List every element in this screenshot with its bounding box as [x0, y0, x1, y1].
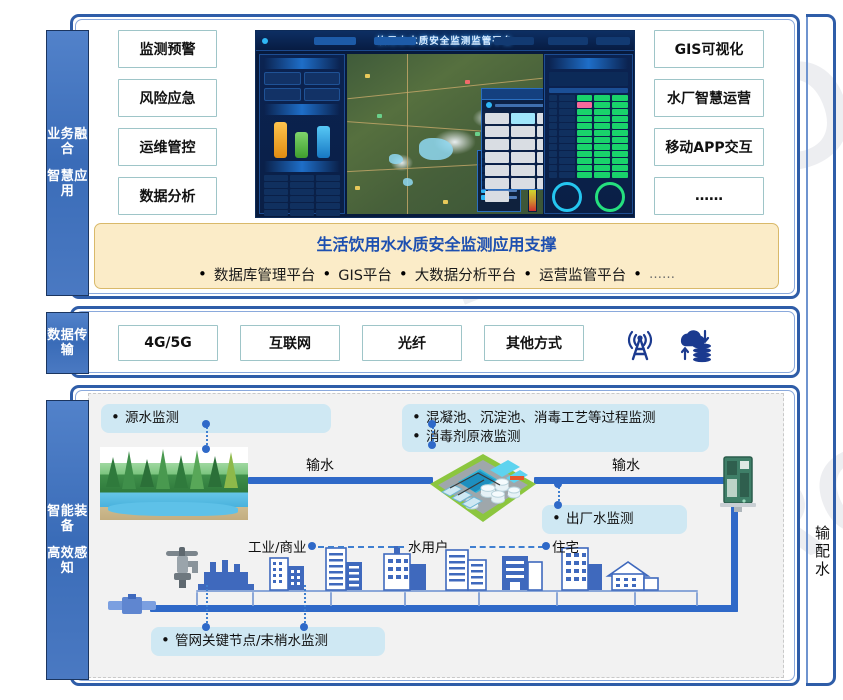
dashboard-nav-tab[interactable] — [548, 37, 588, 45]
bullet-icon: • — [322, 267, 331, 282]
table-cell — [264, 182, 288, 188]
metric-tile[interactable] — [537, 178, 543, 189]
connector-dot — [308, 542, 316, 550]
connector-dot — [554, 480, 562, 488]
pipe-support — [330, 592, 332, 606]
table-cell — [290, 196, 314, 202]
sidebar-tab-transmission[interactable]: 数据传输 — [46, 312, 89, 374]
transmission-button-other[interactable]: 其他方式 — [484, 325, 584, 361]
metric-tile[interactable] — [537, 139, 543, 150]
table-row[interactable] — [549, 102, 628, 108]
dashboard-map[interactable]: ✕ — [347, 54, 543, 214]
indicator-bar-ph — [317, 126, 330, 158]
callout-text: 源水监测 — [109, 409, 321, 428]
alarm-summary-text — [549, 72, 628, 86]
table-cell — [264, 189, 288, 195]
distribution-pipe-horizontal — [150, 605, 738, 612]
plant-building — [510, 476, 524, 480]
dashboard-nav-tab[interactable] — [374, 37, 416, 45]
table-cell — [290, 175, 314, 181]
table-row[interactable] — [549, 158, 628, 164]
stat-card[interactable] — [264, 72, 301, 85]
table-row — [264, 210, 340, 216]
table-cell — [316, 196, 340, 202]
map-water-area — [419, 138, 453, 160]
connector-dot — [300, 623, 308, 631]
table-row[interactable] — [549, 95, 628, 101]
support-item-operation[interactable]: 运营监管平台 — [539, 264, 626, 285]
status-badge-ok — [577, 130, 593, 136]
dashboard-left-panel — [259, 54, 345, 214]
pipe-support — [634, 592, 636, 606]
table-cell — [290, 217, 314, 218]
table-cell — [264, 210, 288, 216]
connector-dot — [428, 441, 436, 449]
table-cell — [290, 210, 314, 216]
connector-dot — [202, 420, 210, 428]
metric-tile[interactable] — [485, 126, 509, 137]
status-badge-ok — [594, 123, 610, 129]
sidebar-tab-application[interactable]: 业务融合 智慧应用 — [46, 30, 89, 296]
callout-text: 管网关键节点/末梢水监测 — [159, 632, 375, 651]
table-cell — [559, 158, 575, 164]
table-row[interactable] — [549, 109, 628, 115]
table-row — [264, 182, 340, 188]
indicator-bar-turbidity — [274, 122, 287, 158]
status-badge-ok — [594, 158, 610, 164]
metric-tile[interactable] — [537, 126, 543, 137]
table-cell — [549, 102, 557, 108]
cloud-database-icon — [672, 323, 714, 363]
control-cabinet-icon — [718, 455, 758, 513]
table-cell — [549, 158, 557, 164]
callout-pipe-network[interactable]: 管网关键节点/末梢水监测 — [151, 627, 385, 656]
metric-tile[interactable] — [485, 113, 509, 124]
table-row[interactable] — [549, 137, 628, 143]
bullet-icon: • — [399, 267, 408, 282]
tree-shape — [140, 459, 154, 487]
user-label-water-user: 水用户 — [408, 536, 449, 556]
status-badge-ok — [577, 172, 593, 178]
metric-tile[interactable] — [537, 113, 543, 124]
modal-metric-grid — [482, 110, 543, 205]
building-group-5 — [502, 556, 542, 590]
metric-tile[interactable] — [537, 152, 543, 163]
tree-shape — [106, 457, 120, 487]
panel-header-statistics — [264, 161, 340, 172]
table-cell — [559, 102, 575, 108]
faucet-icon — [160, 545, 208, 589]
table-cell — [316, 189, 340, 195]
table-cell — [549, 109, 557, 115]
support-item-more[interactable]: …… — [649, 267, 675, 282]
transmission-button-fiber[interactable]: 光纤 — [362, 325, 462, 361]
status-badge-ok — [594, 102, 610, 108]
status-badge-ok — [577, 109, 593, 115]
table-cell — [316, 175, 340, 181]
application-right-button-column: GIS可视化 水厂智慧运营 移动APP交互 …… — [654, 30, 764, 226]
support-platform-bar: 生活饮用水水质安全监测应用支撑 • 数据库管理平台 • GIS平台 • 大数据分… — [94, 223, 779, 289]
pipe-support — [696, 592, 698, 606]
table-cell — [316, 217, 340, 218]
house-group — [608, 562, 658, 590]
dashboard-nav-tab[interactable] — [314, 37, 356, 45]
map-water-area — [389, 154, 403, 164]
water-treatment-plant-illustration — [428, 452, 538, 524]
table-cell — [264, 203, 288, 209]
map-marker[interactable] — [475, 132, 480, 136]
connector-line — [304, 585, 306, 627]
modal-subtitle — [495, 104, 543, 107]
table-row — [264, 203, 340, 209]
modal-header: ✕ — [482, 89, 543, 100]
status-badge-ok — [594, 144, 610, 150]
table-cell — [549, 130, 557, 136]
connector-dot — [202, 445, 210, 453]
sidebar-tab-label: 智慧应用 — [47, 169, 88, 199]
status-badge-ok — [612, 137, 628, 143]
table-cell — [290, 189, 314, 195]
status-badge-ok — [612, 95, 628, 101]
user-label-residential: 住宅 — [552, 536, 579, 556]
app-button-risk-emergency[interactable]: 风险应急 — [118, 79, 217, 117]
status-badge-ok — [612, 102, 628, 108]
table-cell — [559, 144, 575, 150]
stat-card[interactable] — [304, 88, 341, 101]
modal-status-dot — [486, 102, 492, 108]
status-badge-ok — [612, 123, 628, 129]
dashboard-menu-dot — [262, 38, 268, 44]
table-cell — [290, 203, 314, 209]
table-row[interactable] — [549, 144, 628, 150]
tree-shape — [156, 449, 170, 489]
table-row — [264, 189, 340, 195]
status-badge-ok — [612, 151, 628, 157]
outer-bracket — [806, 14, 836, 686]
sidebar-tab-label: 高效感知 — [47, 546, 88, 576]
status-badge-ok — [577, 123, 593, 129]
table-cell — [549, 123, 557, 129]
table-cell — [559, 165, 575, 171]
status-badge-ok — [577, 137, 593, 143]
metric-tile[interactable] — [511, 152, 535, 163]
metric-tile-selected[interactable] — [511, 113, 535, 124]
callout-text: 消毒剂原液监测 — [410, 428, 699, 447]
table-cell — [549, 95, 557, 101]
status-badge-ok — [577, 116, 593, 122]
gauge-quality-rate — [595, 182, 625, 212]
indicator-bar-chlorine — [295, 132, 308, 158]
connector-dot — [542, 542, 550, 550]
metric-tile[interactable] — [511, 139, 535, 150]
table-header-row — [549, 88, 628, 93]
status-badge-ok — [612, 165, 628, 171]
user-label-industrial: 工业/商业 — [248, 536, 307, 556]
table-cell — [549, 144, 557, 150]
table-cell — [559, 123, 575, 129]
table-cell — [264, 175, 288, 181]
table-cell — [559, 95, 575, 101]
status-badge-ok — [594, 172, 610, 178]
support-title: 生活饮用水水质安全监测应用支撑 — [95, 231, 778, 255]
flow-label-distribution: 输配水 — [755, 525, 833, 579]
status-badge-ok — [594, 109, 610, 115]
metric-tile[interactable] — [485, 165, 509, 176]
transmission-button-4g5g[interactable]: 4G/5G — [118, 325, 218, 361]
status-badge-ok — [612, 130, 628, 136]
connector-line — [206, 585, 208, 627]
panel-header-realtime — [549, 58, 628, 69]
table-cell — [559, 130, 575, 136]
map-road — [407, 54, 408, 214]
building-group-4 — [446, 550, 486, 590]
status-badge-ok — [577, 151, 593, 157]
table-cell — [549, 137, 557, 143]
table-cell — [549, 116, 557, 122]
metric-tile[interactable] — [485, 139, 509, 150]
tree-shape — [190, 450, 204, 489]
valve-icon — [108, 594, 156, 616]
table-row — [264, 217, 340, 218]
tree-shape — [174, 455, 188, 488]
status-badge-ok — [594, 95, 610, 101]
transmission-button-internet[interactable]: 互联网 — [240, 325, 340, 361]
table-cell — [559, 116, 575, 122]
table-cell — [290, 182, 314, 188]
table-cell — [559, 137, 575, 143]
connector-dot — [428, 420, 436, 428]
bullet-icon: • — [523, 267, 532, 282]
metric-tile[interactable] — [485, 152, 509, 163]
status-badge-ok — [612, 158, 628, 164]
application-left-button-column: 监测预警 风险应急 运维管控 数据分析 — [118, 30, 217, 226]
stat-card[interactable] — [264, 88, 301, 101]
app-button-smart-waterworks[interactable]: 水厂智慧运营 — [654, 79, 764, 117]
indicator-bar-chart — [260, 118, 344, 158]
table-cell — [316, 210, 340, 216]
status-badge-ok — [594, 151, 610, 157]
stat-card[interactable] — [304, 72, 341, 85]
status-badge-ok — [594, 130, 610, 136]
status-badge-ok — [594, 165, 610, 171]
status-badge-ok — [594, 137, 610, 143]
status-badge-ok — [612, 172, 628, 178]
pipe-support — [556, 592, 558, 606]
map-marker[interactable] — [377, 114, 382, 118]
metric-tile[interactable] — [537, 165, 543, 176]
gauge-row — [545, 182, 632, 212]
tree-shape — [122, 451, 136, 489]
flow-label-transfer-left: 输水 — [306, 455, 334, 475]
transfer-pipe-right — [534, 477, 738, 484]
dashboard-nav-tab[interactable] — [494, 37, 534, 45]
callout-text: 混凝池、沉淀池、消毒工艺等过程监测 — [410, 409, 699, 428]
building-group-1 — [270, 558, 304, 590]
metric-tile[interactable] — [511, 178, 535, 189]
pipe-support — [404, 592, 406, 606]
status-badge-ok — [612, 144, 628, 150]
sidebar-tab-label: 数据传输 — [47, 328, 88, 358]
app-button-data-analysis[interactable]: 数据分析 — [118, 177, 217, 215]
reservoir-water — [108, 502, 238, 516]
table-row — [264, 175, 340, 181]
sidebar-tab-sensing[interactable]: 智能装备 高效感知 — [46, 400, 89, 680]
water-source-image — [100, 447, 248, 520]
platform-dashboard-screenshot[interactable]: 饮用水水质安全监测监管平台 — [255, 30, 635, 218]
table-cell — [264, 217, 288, 218]
table-row[interactable] — [549, 116, 628, 122]
callout-text: 出厂水监测 — [550, 510, 677, 529]
transmission-icon-group — [620, 323, 714, 363]
bullet-icon: • — [633, 267, 642, 282]
support-item-list: • 数据库管理平台 • GIS平台 • 大数据分析平台 • 运营监管平台 • …… — [95, 264, 778, 285]
pipe-support — [252, 592, 254, 606]
radio-tower-icon — [620, 323, 660, 363]
callout-plant-process[interactable]: 混凝池、沉淀池、消毒工艺等过程监测 消毒剂原液监测 — [402, 404, 709, 452]
support-item-bigdata[interactable]: 大数据分析平台 — [415, 264, 517, 285]
table-cell — [549, 172, 557, 178]
table-cell — [559, 151, 575, 157]
pipe-support — [196, 592, 198, 606]
status-badge-ok — [577, 144, 593, 150]
app-button-monitoring-alert[interactable]: 监测预警 — [118, 30, 217, 68]
table-row — [264, 196, 340, 202]
statistics-table — [260, 175, 344, 218]
metric-tile[interactable] — [511, 165, 535, 176]
app-button-more[interactable]: …… — [654, 177, 764, 215]
panel-header-overview — [264, 58, 340, 69]
stat-card-grid — [260, 72, 344, 101]
status-badge-ok — [577, 165, 593, 171]
table-cell — [549, 151, 557, 157]
connector-dot — [202, 623, 210, 631]
tree-shape — [224, 452, 238, 488]
building-group-2 — [326, 548, 362, 590]
status-badge-ok — [612, 116, 628, 122]
transfer-pipe-left — [248, 477, 433, 484]
table-row[interactable] — [549, 123, 628, 129]
metric-tile[interactable] — [485, 178, 509, 189]
map-marker[interactable] — [365, 74, 370, 78]
table-cell — [549, 165, 557, 171]
table-row[interactable] — [549, 151, 628, 157]
map-marker[interactable] — [443, 200, 448, 204]
table-cell — [559, 109, 575, 115]
dashboard-detail-modal[interactable]: ✕ — [481, 88, 543, 190]
table-row[interactable] — [549, 130, 628, 136]
table-cell — [316, 203, 340, 209]
connector-dashes — [470, 546, 544, 548]
dashboard-right-panel — [544, 54, 633, 214]
callout-outlet-water[interactable]: 出厂水监测 — [542, 505, 687, 534]
dashboard-nav-tab[interactable] — [596, 37, 630, 45]
tree-shape — [208, 456, 222, 487]
sidebar-tab-label: 业务融合 — [47, 127, 88, 157]
app-button-mobile-app[interactable]: 移动APP交互 — [654, 128, 764, 166]
map-marker[interactable] — [355, 186, 360, 190]
status-badge-ok — [594, 116, 610, 122]
app-button-gis-visualization[interactable]: GIS可视化 — [654, 30, 764, 68]
table-cell — [316, 182, 340, 188]
table-cell — [264, 196, 288, 202]
connector-dot — [554, 501, 562, 509]
realtime-table[interactable] — [545, 95, 632, 178]
status-badge-ok — [612, 109, 628, 115]
flow-label-transfer-right: 输水 — [612, 455, 640, 475]
support-item-gis[interactable]: GIS平台 — [338, 264, 392, 285]
transmission-button-row: 4G/5G 互联网 光纤 其他方式 — [118, 324, 778, 362]
bullet-icon: • — [198, 267, 207, 282]
status-badge-alarm — [577, 102, 593, 108]
metric-tile[interactable] — [511, 126, 535, 137]
support-item-database[interactable]: 数据库管理平台 — [214, 264, 316, 285]
app-button-ops-control[interactable]: 运维管控 — [118, 128, 217, 166]
callout-source-water[interactable]: 源水监测 — [101, 404, 331, 433]
table-row[interactable] — [549, 165, 628, 171]
map-marker[interactable] — [465, 80, 470, 84]
table-row[interactable] — [549, 172, 628, 178]
sidebar-tab-label: 智能装备 — [47, 504, 88, 534]
metric-tile[interactable] — [485, 191, 509, 202]
panel-header-indicators — [264, 104, 340, 115]
status-badge-ok — [577, 95, 593, 101]
map-water-area — [403, 178, 413, 186]
status-badge-ok — [577, 158, 593, 164]
pipe-support — [478, 592, 480, 606]
table-cell — [559, 172, 575, 178]
connector-dashes — [318, 546, 404, 548]
gauge-device-rate — [552, 182, 582, 212]
